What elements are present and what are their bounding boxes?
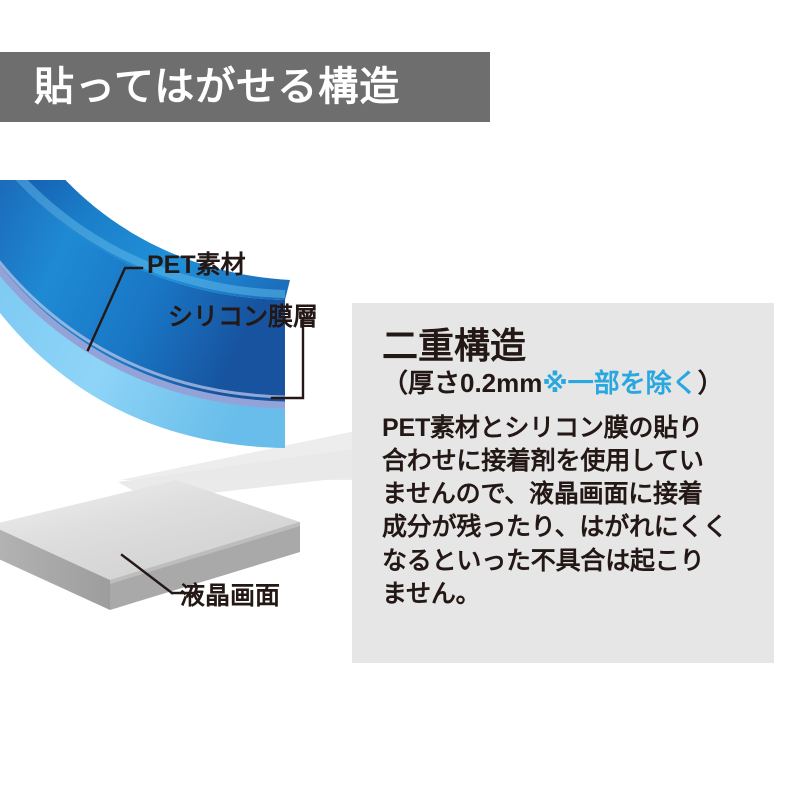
section-banner: 貼ってはがせる構造 [0,52,490,122]
infographic-canvas: 貼ってはがせる構造 [0,0,800,800]
panel-subheading-close: ） [698,368,724,398]
body-line: ません。 [382,578,758,611]
label-lcd-screen: 液晶画面 [180,584,280,609]
body-line: ませんので、液晶画面に接着 [382,478,758,511]
panel-heading: 二重構造 [382,327,758,365]
panel-subheading-note: ※一部を除く [542,368,697,398]
panel-subheading: （厚さ0.2mm※一部を除く） [382,369,758,399]
label-silicon-layer: シリコン膜層 [168,305,318,330]
panel-subheading-thickness: （厚さ0.2mm [382,368,542,398]
body-line: PET素材とシリコン膜の貼り [382,412,758,445]
description-panel: 二重構造 （厚さ0.2mm※一部を除く） PET素材とシリコン膜の貼り 合わせに… [352,303,774,663]
body-line: 成分が残ったり、はがれにくく [382,511,758,544]
body-line: 合わせに接着剤を使用してい [382,445,758,478]
description-panel-content: 二重構造 （厚さ0.2mm※一部を除く） PET素材とシリコン膜の貼り 合わせに… [382,327,758,611]
body-line: なるといった不具合は起こり [382,545,758,578]
banner-title: 貼ってはがせる構造 [34,67,400,107]
label-pet-material: PET素材 [147,253,246,278]
panel-body-text: PET素材とシリコン膜の貼り 合わせに接着剤を使用してい ませんので、液晶画面に… [382,412,758,612]
